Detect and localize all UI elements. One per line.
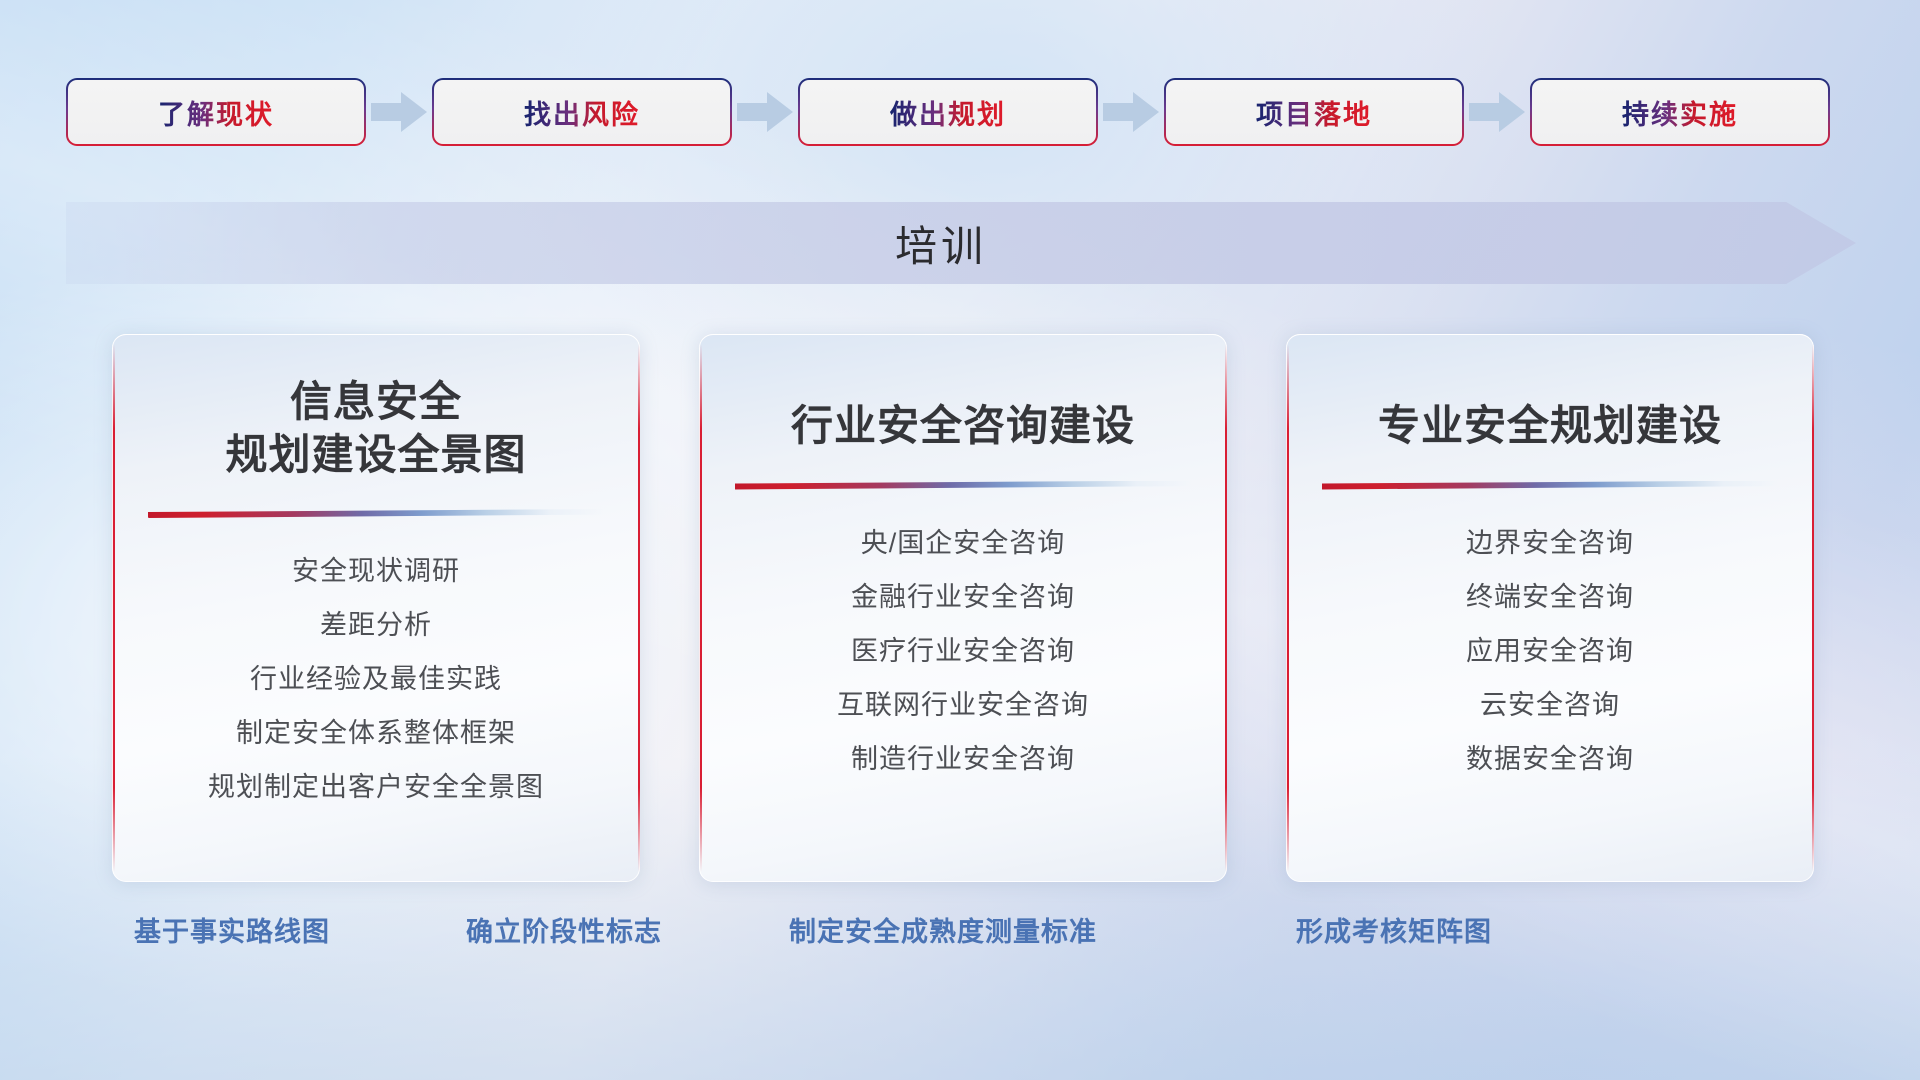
list-item: 数据安全咨询 [1306, 746, 1794, 773]
card-3-divider [1322, 481, 1778, 490]
step-label-3: 做出规划 [890, 93, 1006, 132]
step-box-5[interactable]: 持续实施 [1530, 78, 1830, 146]
step-box-2[interactable]: 找出风险 [432, 78, 732, 146]
card-1-title: 信息安全 规划建设全景图 [112, 334, 640, 481]
step-box-1-inner: 了解现状 [68, 80, 364, 144]
step-box-4[interactable]: 项目落地 [1164, 78, 1464, 146]
step-box-2-inner: 找出风险 [434, 80, 730, 144]
card-1-divider [148, 509, 604, 518]
step-box-5-inner: 持续实施 [1532, 80, 1828, 144]
step-arrow-icon-3 [1098, 90, 1164, 134]
list-item: 行业经验及最佳实践 [132, 666, 620, 693]
step-box-3-inner: 做出规划 [800, 80, 1096, 144]
card-3-title: 专业安全规划建设 [1286, 334, 1814, 453]
card-row: 信息安全 规划建设全景图 安全现状调研 差距分析 行业经验及最佳实践 制定安全体… [112, 334, 1814, 882]
step-label-2: 找出风险 [524, 93, 640, 132]
step-box-1[interactable]: 了解现状 [66, 78, 366, 146]
banner-title: 培训 [66, 202, 1856, 284]
card-2-title-line1: 行业安全咨询建设 [791, 402, 1135, 449]
process-step-row: 了解现状 找出风险 做出规划 项目落地 [66, 76, 1856, 148]
footnote-4: 形成考核矩阵图 [1296, 910, 1492, 949]
card-3-list: 边界安全咨询 终端安全咨询 应用安全咨询 云安全咨询 数据安全咨询 [1286, 490, 1814, 773]
list-item: 差距分析 [132, 612, 620, 639]
footnote-1: 基于事实路线图 [134, 910, 330, 949]
list-item: 金融行业安全咨询 [719, 584, 1207, 611]
list-item: 终端安全咨询 [1306, 584, 1794, 611]
list-item: 互联网行业安全咨询 [719, 692, 1207, 719]
list-item: 制定安全体系整体框架 [132, 720, 620, 747]
footnote-3: 制定安全成熟度测量标准 [789, 910, 1097, 949]
card-3-title-line1: 专业安全规划建设 [1378, 402, 1722, 449]
card-information-security-panorama[interactable]: 信息安全 规划建设全景图 安全现状调研 差距分析 行业经验及最佳实践 制定安全体… [112, 334, 640, 882]
list-item: 制造行业安全咨询 [719, 746, 1207, 773]
step-box-4-inner: 项目落地 [1166, 80, 1462, 144]
list-item: 安全现状调研 [132, 558, 620, 585]
step-arrow-icon-1 [366, 90, 432, 134]
list-item: 应用安全咨询 [1306, 638, 1794, 665]
training-banner: 培训 [66, 202, 1856, 284]
list-item: 云安全咨询 [1306, 692, 1794, 719]
footnote-row: 基于事实路线图 确立阶段性标志 制定安全成熟度测量标准 形成考核矩阵图 [0, 910, 1920, 960]
step-label-1: 了解现状 [158, 93, 274, 132]
card-2-title: 行业安全咨询建设 [699, 334, 1227, 453]
list-item: 医疗行业安全咨询 [719, 638, 1207, 665]
step-label-4: 项目落地 [1256, 93, 1372, 132]
card-2-list: 央/国企安全咨询 金融行业安全咨询 医疗行业安全咨询 互联网行业安全咨询 制造行… [699, 490, 1227, 773]
step-box-3[interactable]: 做出规划 [798, 78, 1098, 146]
footnote-2: 确立阶段性标志 [466, 910, 662, 949]
list-item: 边界安全咨询 [1306, 530, 1794, 557]
card-2-divider [735, 481, 1191, 490]
step-arrow-icon-2 [732, 90, 798, 134]
card-1-title-line2: 规划建设全景图 [225, 431, 526, 478]
step-label-5: 持续实施 [1622, 93, 1738, 132]
step-arrow-icon-4 [1464, 90, 1530, 134]
list-item: 规划制定出客户安全全景图 [132, 774, 620, 801]
card-1-title-line1: 信息安全 [290, 378, 462, 425]
card-professional-security-planning[interactable]: 专业安全规划建设 边界安全咨询 终端安全咨询 应用安全咨询 云安全咨询 数据安全… [1286, 334, 1814, 882]
card-industry-security-consulting[interactable]: 行业安全咨询建设 央/国企安全咨询 金融行业安全咨询 医疗行业安全咨询 互联网行… [699, 334, 1227, 882]
card-1-list: 安全现状调研 差距分析 行业经验及最佳实践 制定安全体系整体框架 规划制定出客户… [112, 518, 640, 801]
list-item: 央/国企安全咨询 [719, 530, 1207, 557]
